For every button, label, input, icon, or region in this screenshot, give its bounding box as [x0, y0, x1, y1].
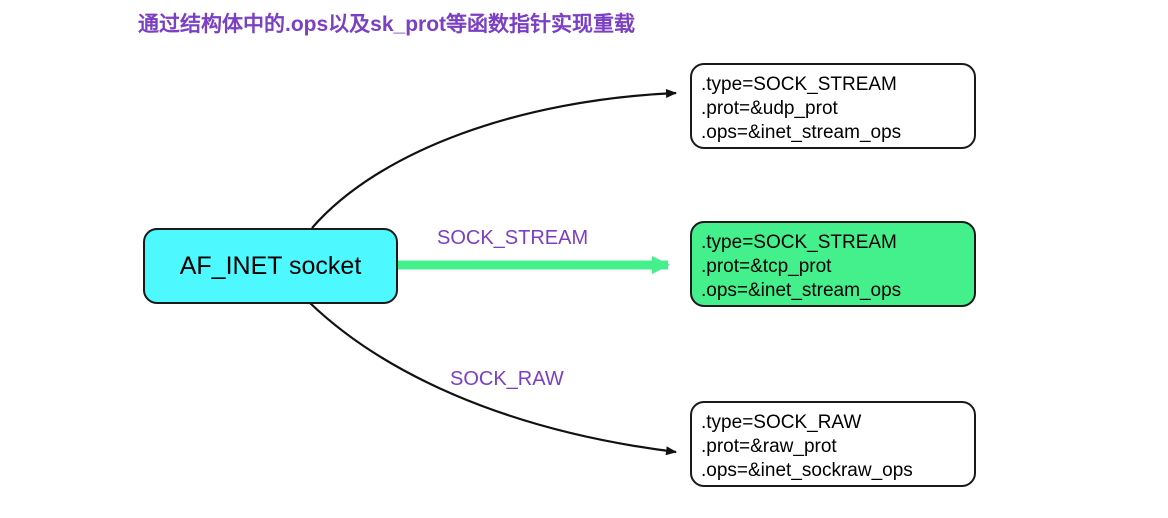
- tcp-ops-line: .ops=&inet_stream_ops: [701, 279, 974, 303]
- udp-prot-line: .prot=&udp_prot: [701, 97, 974, 121]
- node-af-inet-socket[interactable]: AF_INET socket: [143, 228, 398, 304]
- edge-label-sock-raw: SOCK_RAW: [450, 368, 564, 391]
- node-udp-struct[interactable]: .type=SOCK_STREAM .prot=&udp_prot .ops=&…: [690, 63, 976, 149]
- raw-ops-line: .ops=&inet_sockraw_ops: [701, 459, 974, 483]
- node-raw-struct[interactable]: .type=SOCK_RAW .prot=&raw_prot .ops=&ine…: [690, 401, 976, 487]
- edge-label-sock-stream: SOCK_STREAM: [437, 227, 588, 250]
- edge-to-udp-struct: [312, 93, 676, 228]
- raw-type-line: .type=SOCK_RAW: [701, 411, 974, 435]
- raw-prot-line: .prot=&raw_prot: [701, 435, 974, 459]
- udp-type-line: .type=SOCK_STREAM: [701, 73, 974, 97]
- node-tcp-struct[interactable]: .type=SOCK_STREAM .prot=&tcp_prot .ops=&…: [690, 221, 976, 307]
- node-af-inet-socket-label: AF_INET socket: [180, 252, 362, 281]
- diagram-canvas: 通过结构体中的.ops以及sk_prot等函数指针实现重载 AF_INET so…: [0, 0, 1168, 518]
- tcp-prot-line: .prot=&tcp_prot: [701, 255, 974, 279]
- udp-ops-line: .ops=&inet_stream_ops: [701, 121, 974, 145]
- tcp-type-line: .type=SOCK_STREAM: [701, 231, 974, 255]
